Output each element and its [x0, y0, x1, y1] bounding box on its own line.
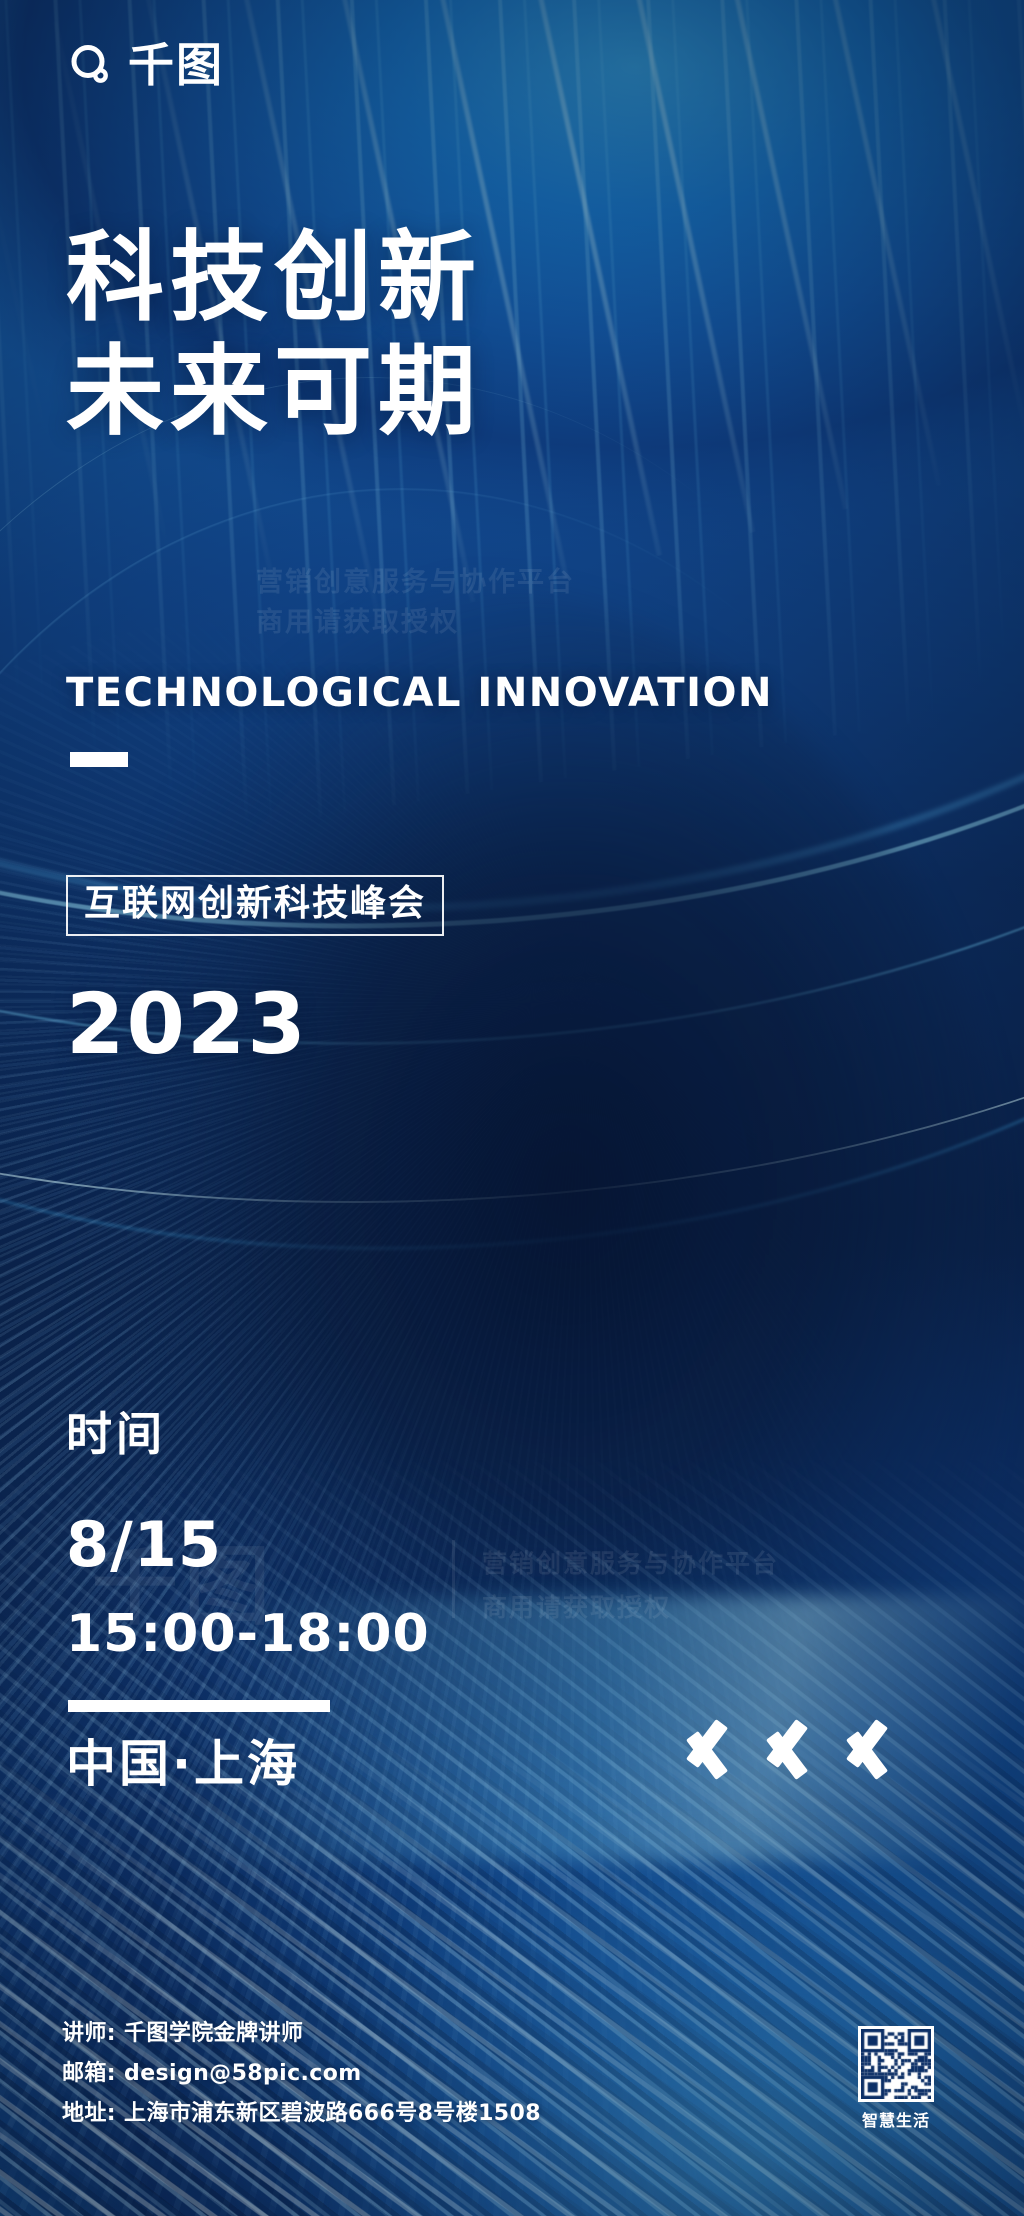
brand-logo-text: 千图	[128, 42, 224, 88]
schedule-place: 中国·上海	[66, 1724, 300, 1796]
footer-speaker: 讲师: 千图学院金牌讲师	[62, 2014, 541, 2054]
headline-block: 科技创新 未来可期	[66, 222, 482, 449]
qr-label: 智慧生活	[858, 2107, 934, 2131]
chevron-left-icon	[846, 1712, 900, 1786]
chevron-left-icon	[766, 1712, 820, 1786]
chevron-left-icon	[686, 1712, 740, 1786]
footer-contact-block: 讲师: 千图学院金牌讲师 邮箱: design@58pic.com 地址: 上海…	[62, 2014, 541, 2134]
headline-line-1: 科技创新	[66, 222, 482, 336]
headline-english: TECHNOLOGICAL INNOVATION	[66, 670, 773, 716]
schedule-label: 时间	[66, 1398, 166, 1464]
schedule-date: 8/15	[66, 1508, 222, 1581]
footer-address: 地址: 上海市浦东新区碧波路666号8号楼1508	[62, 2094, 541, 2134]
watermark-divider	[452, 1540, 455, 1618]
event-name-text: 互联网创新科技峰会	[84, 885, 426, 923]
chevron-group	[686, 1712, 900, 1786]
accent-rule-wide	[68, 1700, 330, 1712]
qiantu-q-icon	[68, 42, 114, 88]
footer-email: 邮箱: design@58pic.com	[62, 2054, 541, 2094]
accent-rule-small	[70, 752, 128, 767]
event-name-box: 互联网创新科技峰会	[66, 875, 444, 936]
headline-line-2: 未来可期	[66, 336, 482, 450]
schedule-time-range: 15:00-18:00	[66, 1604, 430, 1664]
brand-logo[interactable]: 千图	[68, 42, 224, 88]
poster-canvas: 营销创意服务与协作平台 商用请获取授权 千图 营销创意服务与协作平台 商用请获取…	[0, 0, 1024, 2216]
qr-code-icon[interactable]	[858, 2026, 934, 2102]
event-year: 2023	[66, 982, 308, 1066]
qr-block[interactable]: 智慧生活	[858, 2026, 934, 2131]
